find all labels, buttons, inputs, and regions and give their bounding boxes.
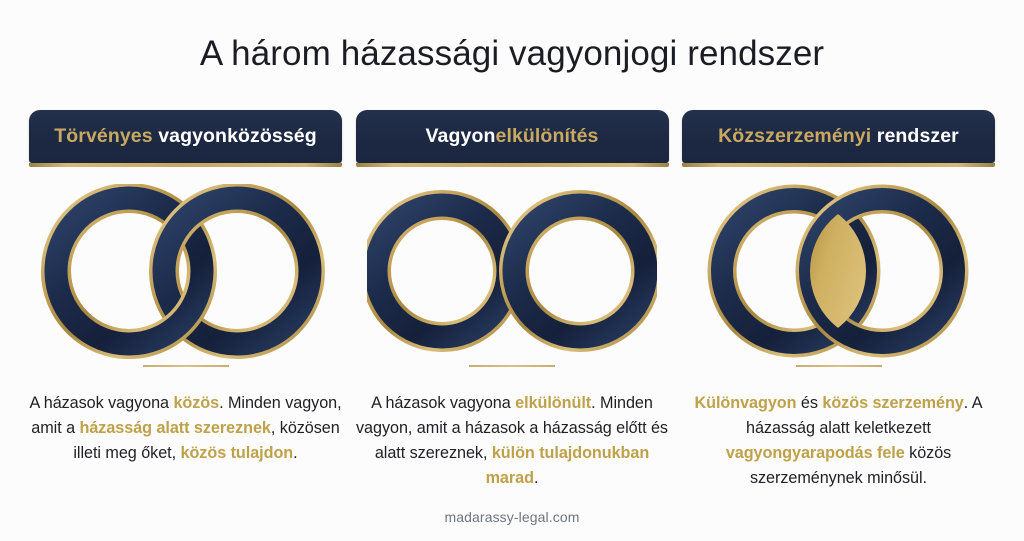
banner-wrapper-3: Közszerzeményi rendszer xyxy=(682,110,995,167)
banner-text-1: Törvényes vagyonközösség xyxy=(54,125,317,148)
columns-container: Törvényes vagyonközösség xyxy=(0,110,1024,510)
body-seg: . xyxy=(293,444,297,462)
column-kozszerzemenyi-rendszer: Közszerzeményi rendszer xyxy=(682,110,995,510)
body-seg: A házasok vagyona xyxy=(29,394,173,412)
body-text-3: Különvagyon és közös szerzemény. A házas… xyxy=(682,391,995,491)
banner-gold-bar-1 xyxy=(29,163,342,167)
infographic-page: A három házassági vagyonjogi rendszer Tö… xyxy=(0,0,1024,541)
banner-wrapper-2: Vagyonelkülönítés xyxy=(356,110,669,167)
body-seg-highlight: közös tulajdon xyxy=(181,444,294,462)
body-seg: . xyxy=(534,469,538,487)
body-seg-highlight: külön tulajdonukban marad xyxy=(486,444,650,487)
banner-2-part2: elkülönítés xyxy=(496,125,599,147)
body-seg-highlight: vagyongyarapodás fele xyxy=(726,444,905,462)
banner-1-part1: Törvényes xyxy=(54,125,158,147)
footer-website[interactable]: madarassy-legal.com xyxy=(0,509,1024,525)
banner-1-part2: vagyonközösség xyxy=(158,125,317,147)
two-overlapping-rings-gold-lens-icon xyxy=(694,184,984,359)
two-interlocked-rings-icon xyxy=(41,184,331,359)
body-seg-highlight: Különvagyon xyxy=(695,394,797,412)
page-title: A három házassági vagyonjogi rendszer xyxy=(0,34,1024,74)
two-separate-rings-icon xyxy=(367,184,657,359)
body-text-2: A házasok vagyona elkülönült. Minden vag… xyxy=(356,391,669,491)
banner-torvenyes-vagyonkozosseg[interactable]: Törvényes vagyonközösség xyxy=(29,110,342,163)
banner-3-part2: rendszer xyxy=(877,125,959,147)
banner-kozszerzemenyi-rendszer[interactable]: Közszerzeményi rendszer xyxy=(682,110,995,163)
divider-2 xyxy=(469,365,555,367)
ring-right-2 xyxy=(514,205,646,337)
body-seg-highlight: közös xyxy=(173,394,219,412)
banner-3-part1: Közszerzeményi xyxy=(718,125,877,147)
body-seg-highlight: elkülönült xyxy=(515,394,591,412)
banner-text-2: Vagyonelkülönítés xyxy=(426,125,599,148)
ring-left-2 xyxy=(376,205,508,337)
rings-illustration-3 xyxy=(694,184,984,359)
banner-gold-bar-3 xyxy=(682,163,995,167)
body-text-1: A házasok vagyona közös. Minden vagyon, … xyxy=(29,391,342,466)
body-seg-highlight: házasság alatt szereznek xyxy=(80,419,271,437)
banner-gold-bar-2 xyxy=(356,163,669,167)
banner-text-3: Közszerzeményi rendszer xyxy=(718,125,959,148)
banner-2-part1: Vagyon xyxy=(426,125,496,147)
divider-3 xyxy=(796,365,882,367)
body-seg: A házasok vagyona xyxy=(371,394,515,412)
divider-1 xyxy=(143,365,229,367)
banner-vagyonelkulonites[interactable]: Vagyonelkülönítés xyxy=(356,110,669,163)
banner-wrapper-1: Törvényes vagyonközösség xyxy=(29,110,342,167)
column-torvenyes-vagyonkozosseg: Törvényes vagyonközösség xyxy=(29,110,342,510)
column-vagyonelkulonites: Vagyonelkülönítés xyxy=(356,110,669,510)
body-seg-highlight: közös szerzemény xyxy=(822,394,963,412)
body-seg: és xyxy=(796,394,822,412)
rings-illustration-2 xyxy=(367,184,657,359)
rings-illustration-1 xyxy=(41,184,331,359)
